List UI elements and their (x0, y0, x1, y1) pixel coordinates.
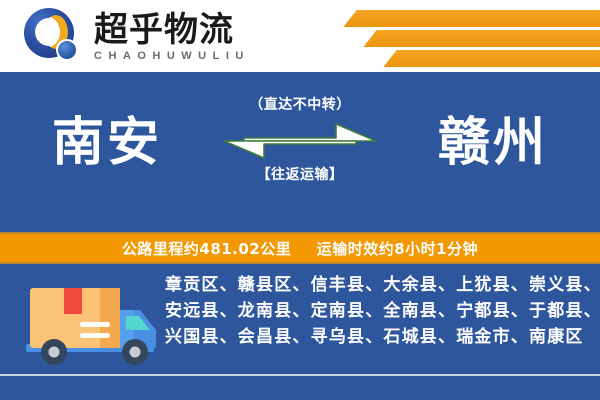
circle-crescent-logo-icon (22, 6, 84, 66)
banner-header: 超乎物流 CHAOHUWULIU (0, 0, 600, 72)
logistics-route-banner: 超乎物流 CHAOHUWULIU 南安 （直达不中转） 【往返运输】 赣州 (0, 0, 600, 400)
coverage-area-list: 章贡区、赣县区、信丰县、大余县、上犹县、崇义县、 安远县、龙南县、定南县、全南县… (165, 272, 585, 350)
info-bar-text: 公路里程约481.02公里 运输时效约8小时1分钟 (122, 238, 478, 259)
company-logo: 超乎物流 CHAOHUWULIU (22, 6, 250, 66)
distance-text: 公路里程约481.02公里 (122, 240, 291, 258)
route-info-bar: 公路里程约481.02公里 运输时效约8小时1分钟 (0, 232, 600, 264)
direct-shipping-note: （直达不中转） (218, 94, 382, 114)
coverage-line: 安远县、龙南县、定南县、全南县、宁都县、于都县、 (165, 298, 585, 324)
stripe-3 (383, 50, 600, 67)
double-arrow-icon (218, 120, 382, 162)
stripe-1 (343, 10, 600, 27)
destination-city: 赣州 (438, 112, 548, 174)
bottom-divider (0, 374, 600, 376)
stripe-2 (363, 30, 600, 47)
origin-city: 南安 (52, 112, 162, 174)
logo-text-block: 超乎物流 CHAOHUWULIU (94, 11, 250, 62)
coverage-line: 兴国县、会昌县、寻乌县、石城县、瑞金市、南康区 (165, 324, 585, 350)
coverage-panel: 章贡区、赣县区、信丰县、大余县、上犹县、崇义县、 安远县、龙南县、定南县、全南县… (0, 264, 600, 400)
header-stripe-decoration (270, 0, 600, 72)
coverage-line: 章贡区、赣县区、信丰县、大余县、上犹县、崇义县、 (165, 272, 585, 298)
logo-dot-shape (56, 39, 78, 61)
duration-text: 运输时效约8小时1分钟 (317, 240, 478, 258)
delivery-truck-icon (22, 280, 162, 370)
route-middle-block: （直达不中转） 【往返运输】 (218, 94, 382, 184)
route-panel: 南安 （直达不中转） 【往返运输】 赣州 (0, 72, 600, 232)
company-name-cn: 超乎物流 (94, 11, 250, 49)
company-name-en: CHAOHUWULIU (94, 51, 250, 62)
return-transport-note: 【往返运输】 (218, 164, 382, 184)
